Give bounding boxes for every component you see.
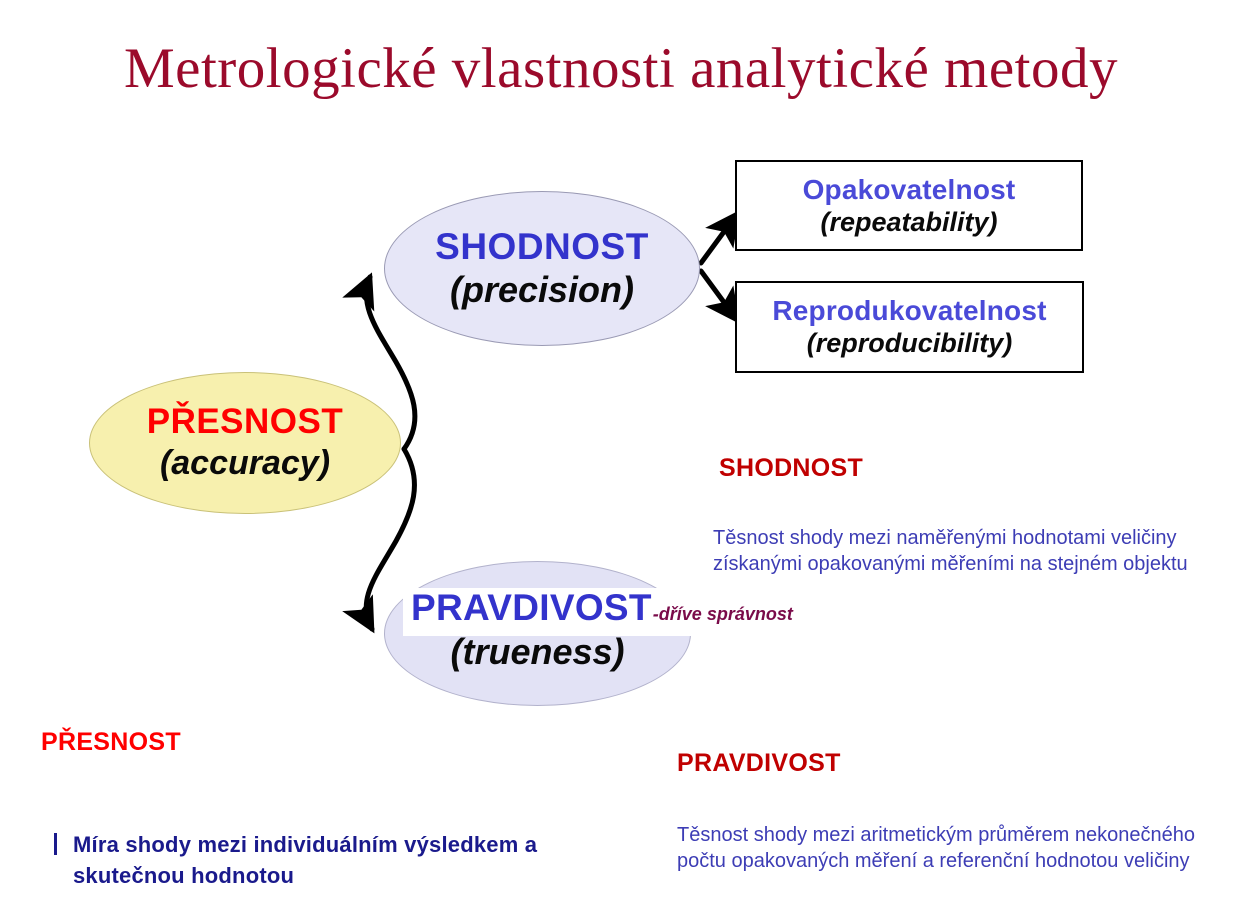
trueness-label-banner: PRAVDIVOST -dříve správnost	[403, 588, 823, 636]
caption-presnost-bullet-text: Míra shody mezi individuálním výsledkem …	[73, 829, 614, 891]
bullet-bar-icon	[54, 833, 57, 855]
node-trueness-note: -dříve správnost	[653, 604, 793, 624]
node-trueness-subtitle: (trueness)	[450, 630, 624, 674]
leaf-box-reproducibility[interactable]: Reprodukovatelnost (reproducibility)	[735, 281, 1084, 373]
connector-precision-to-reproducibility	[701, 271, 737, 320]
node-precision-title: SHODNOST	[435, 226, 649, 268]
caption-body-presnost: Míra shody mezi individuálním výsledkem …	[54, 829, 614, 891]
caption-heading-presnost: PŘESNOST	[41, 727, 181, 757]
caption-body-pravdivost: Těsnost shody mezi aritmetickým průměrem…	[677, 822, 1242, 874]
metrology-diagram: SHODNOST (precision) PŘESNOST (accuracy)…	[0, 0, 1242, 909]
node-accuracy-subtitle: (accuracy)	[160, 442, 330, 484]
node-accuracy-title: PŘESNOST	[147, 402, 344, 442]
connector-precision-to-repeatability	[701, 214, 737, 263]
node-precision[interactable]: SHODNOST (precision)	[384, 191, 700, 346]
leaf-box-repeatability[interactable]: Opakovatelnost (repeatability)	[735, 160, 1083, 251]
node-accuracy[interactable]: PŘESNOST (accuracy)	[89, 372, 401, 514]
leaf-repeatability-subtitle: (repeatability)	[820, 206, 997, 238]
caption-body-shodnost: Těsnost shody mezi naměřenými hodnotami …	[713, 525, 1242, 577]
node-precision-subtitle: (precision)	[450, 268, 634, 312]
node-trueness-title: PRAVDIVOST	[411, 588, 652, 628]
caption-heading-shodnost: SHODNOST	[719, 453, 863, 483]
caption-heading-pravdivost: PRAVDIVOST	[677, 748, 841, 778]
leaf-repeatability-title: Opakovatelnost	[803, 174, 1016, 206]
leaf-reproducibility-title: Reprodukovatelnost	[772, 295, 1046, 327]
leaf-reproducibility-subtitle: (reproducibility)	[807, 327, 1013, 359]
